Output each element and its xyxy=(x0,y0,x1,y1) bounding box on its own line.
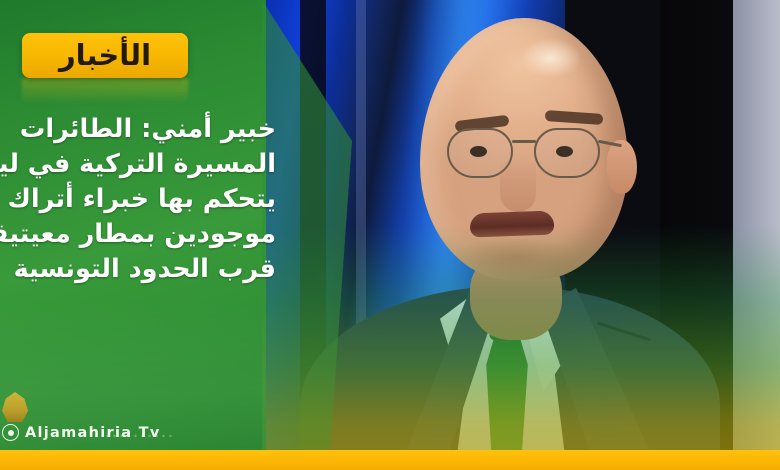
channel-name: Aljamahiria Tv xyxy=(25,425,161,441)
head-highlight xyxy=(520,38,582,78)
headline-line-2: المسيرة التركية في ليبيا xyxy=(0,147,276,182)
circle-play-icon xyxy=(2,424,19,441)
eyeglasses-bridge xyxy=(512,140,536,143)
headline-line-1: خبير أمني: الطائرات xyxy=(0,112,276,147)
headline-line-3: يتحكم بها خبراء أتراك xyxy=(0,182,276,217)
ear xyxy=(607,140,637,194)
headline-block: خبير أمني: الطائرات المسيرة التركية في ل… xyxy=(0,112,282,287)
news-badge-label: الأخبار xyxy=(59,41,151,70)
headline-line-4: موجودين بمطار معيتيقة xyxy=(0,217,276,252)
chin-shadow xyxy=(452,236,580,278)
broadcast-screenshot: الأخبار خبير أمني: الطائرات المسيرة التر… xyxy=(0,0,780,470)
mouth xyxy=(470,211,555,238)
news-badge: الأخبار xyxy=(22,33,188,78)
nose xyxy=(500,158,536,212)
bottom-accent-bar xyxy=(0,450,780,470)
eyeglasses-lens-right xyxy=(534,128,600,178)
channel-branding: Aljamahiria Tv xyxy=(2,424,161,441)
headline-line-5: قرب الحدود التونسية xyxy=(0,252,276,287)
